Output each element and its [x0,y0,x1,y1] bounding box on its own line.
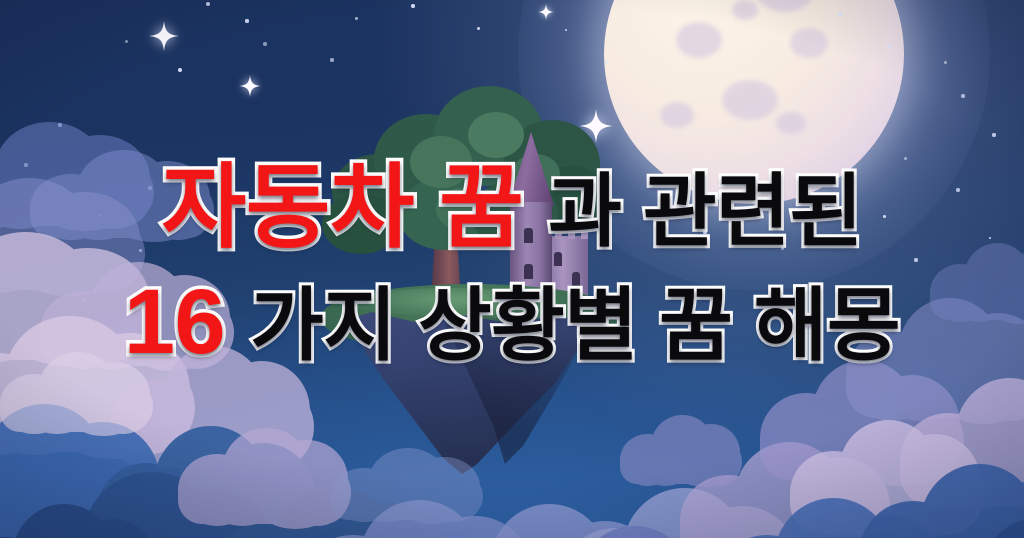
title-line-1: 자동차 꿈 과 관련된 [0,162,1024,254]
title-block: 자동차 꿈 과 관련된 16 가지 상황별 꿈 해몽 [0,162,1024,368]
title-line2-black-segment: 가지 상황별 꿈 해몽 [250,286,900,366]
thumbnail-canvas: 자동차 꿈 과 관련된 16 가지 상황별 꿈 해몽 [0,0,1024,538]
title-line2-red-segment: 16 [124,276,225,368]
title-line1-black-segment: 과 관련된 [548,172,862,252]
title-line-2: 16 가지 상황별 꿈 해몽 [0,276,1024,368]
title-line1-red-segment: 자동차 꿈 [162,162,524,254]
